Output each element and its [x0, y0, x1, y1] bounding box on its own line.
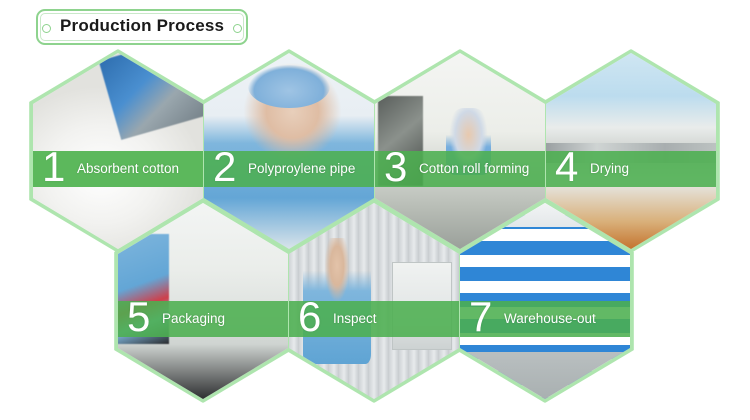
step-label: Inspect — [333, 311, 377, 327]
step-number: 2 — [213, 146, 236, 188]
step-number: 4 — [555, 146, 578, 188]
step-label: Absorbent cotton — [77, 161, 179, 177]
step-number: 7 — [469, 296, 492, 338]
step-label-band: 7 Warehouse-out — [460, 301, 630, 337]
step-label: Cotton roll forming — [419, 161, 529, 177]
step-label-band: 3 Cotton roll forming — [375, 151, 545, 187]
process-step-grid: 1 Absorbent cotton 2 Polyproylene pipe 3… — [0, 0, 750, 420]
step-label: Warehouse-out — [504, 311, 596, 327]
step-label-band: 4 Drying — [546, 151, 716, 187]
step-label-band: 1 Absorbent cotton — [33, 151, 203, 187]
step-label: Packaging — [162, 311, 225, 327]
step-label-band: 5 Packaging — [118, 301, 288, 337]
step-label: Drying — [590, 161, 629, 177]
step-number: 6 — [298, 296, 321, 338]
step-label-band: 6 Inspect — [289, 301, 459, 337]
step-number: 5 — [127, 296, 150, 338]
step-number: 3 — [384, 146, 407, 188]
step-number: 1 — [42, 146, 65, 188]
step-label: Polyproylene pipe — [248, 161, 355, 177]
step-label-band: 2 Polyproylene pipe — [204, 151, 374, 187]
